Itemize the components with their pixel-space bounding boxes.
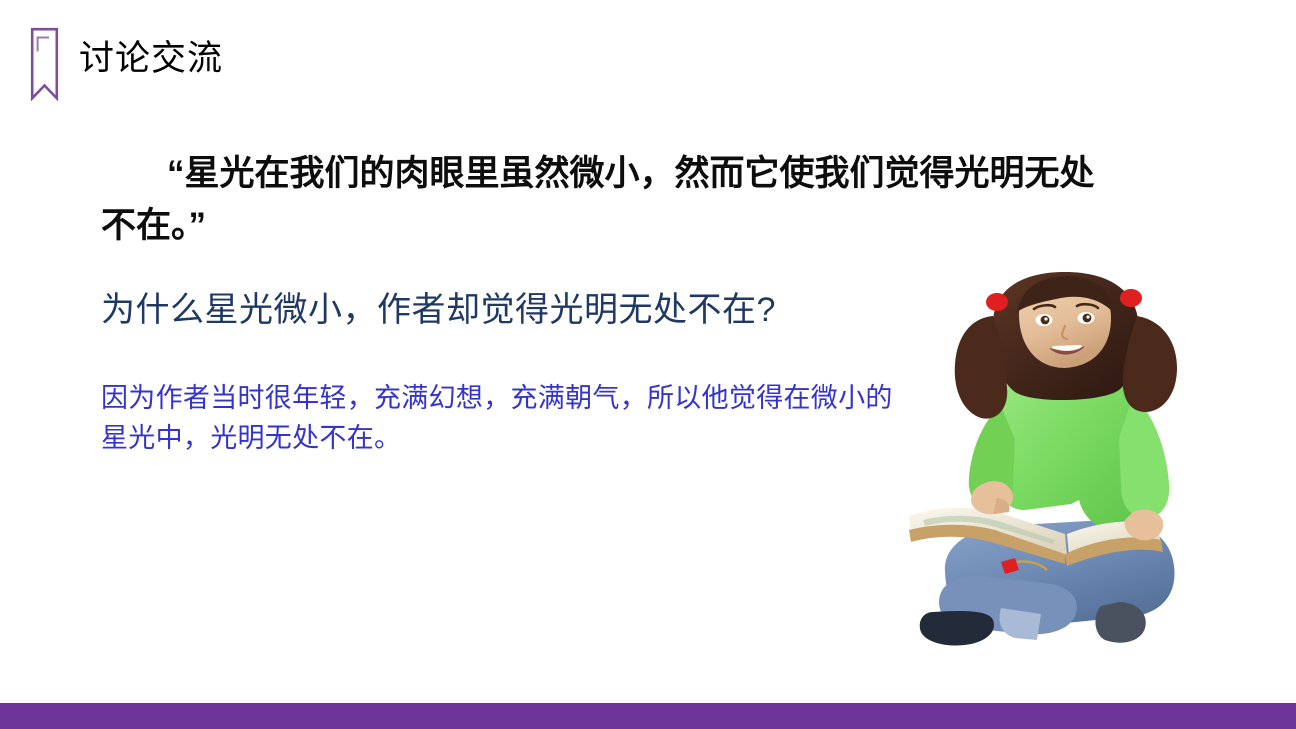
- footer-accent-bar: [0, 703, 1296, 729]
- slide-canvas: 讨论交流 “星光在我们的肉眼里虽然微小，然而它使我们觉得光明无处 不在。” 为什…: [0, 0, 1296, 729]
- girl-reading-photo: [905, 272, 1225, 664]
- discussion-answer: 因为作者当时很年轻，充满幻想，充满朝气，所以他觉得在微小的星光中，光明无处不在。: [101, 378, 906, 458]
- quote-line-1: “星光在我们的肉眼里虽然微小，然而它使我们觉得光明无处: [101, 148, 1191, 200]
- discussion-question: 为什么星光微小，作者却觉得光明无处不在?: [101, 288, 961, 332]
- page-title: 讨论交流: [79, 37, 223, 81]
- quote-text: “星光在我们的肉眼里虽然微小，然而它使我们觉得光明无处 不在。”: [101, 148, 1191, 252]
- slide-header: 讨论交流: [0, 0, 1296, 118]
- bookmark-icon: [30, 27, 59, 101]
- quote-line-2: 不在。”: [101, 200, 1191, 252]
